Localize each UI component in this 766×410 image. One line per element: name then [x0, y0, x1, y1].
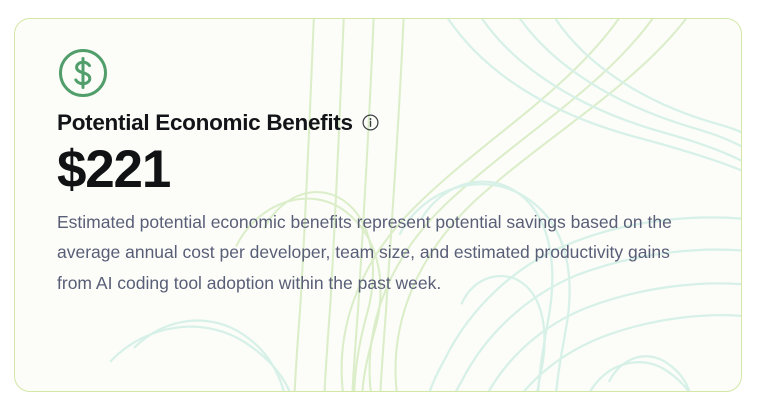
metric-value: $221 [57, 140, 709, 199]
card-content: Potential Economic Benefits $221 Estimat… [15, 19, 741, 298]
metric-description: Estimated potential economic benefits re… [57, 207, 705, 297]
dollar-circle-icon [57, 47, 109, 99]
screenshot-stage: Potential Economic Benefits $221 Estimat… [0, 0, 766, 410]
potential-economic-benefits-card: Potential Economic Benefits $221 Estimat… [14, 18, 742, 392]
info-icon[interactable] [362, 114, 379, 131]
card-title-row: Potential Economic Benefits [57, 109, 709, 136]
card-title: Potential Economic Benefits [57, 109, 353, 136]
